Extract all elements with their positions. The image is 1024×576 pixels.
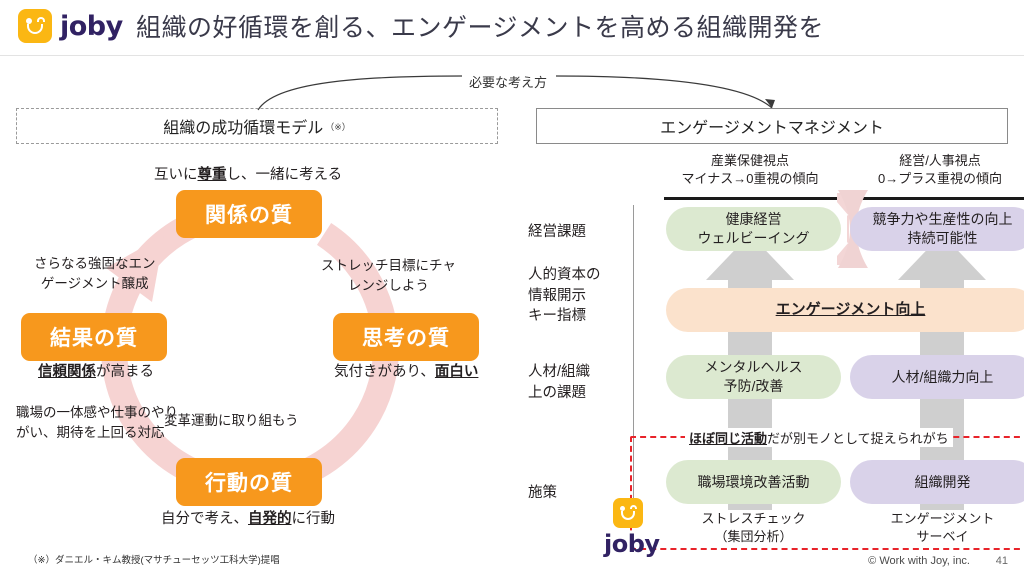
connector-label: 必要な考え方	[465, 72, 551, 91]
cycle-note-act-to-result-line2: がい、期待を上回る対応	[16, 423, 178, 443]
cell-talent-left-line2: 予防/改善	[705, 377, 803, 396]
page-number: 41	[996, 555, 1008, 567]
header-divider	[0, 55, 1024, 56]
callout-label-rest: だが別モノとして捉えられがち	[767, 431, 949, 446]
cycle-caption-action: 自分で考え、自発的に行動	[161, 510, 335, 530]
cycle-note-rel-to-think-line1: ストレッチ目標にチャ	[321, 256, 456, 276]
cycle-note-think-to-act: 変革運動に取り組もう	[164, 411, 299, 431]
footer-joby-logo-icon	[613, 498, 643, 528]
cell-talent-right[interactable]: 人材/組織力向上	[850, 355, 1024, 399]
cycle-node-action-label: 行動の質	[205, 467, 293, 497]
cell-talent-left-line1: メンタルヘルス	[705, 358, 803, 377]
cycle-caption-result-emph: 信頼関係	[38, 364, 96, 380]
left-panel-title-text: 組織の成功循環モデル	[163, 114, 323, 138]
right-panel-title: エンゲージメントマネジメント	[536, 108, 1008, 144]
cycle-note-act-to-result-line1: 職場の一体感や仕事のやり	[16, 403, 178, 423]
footer-logo-smile-icon	[621, 511, 635, 520]
cycle-note-rel-to-think-line2: レンジしよう	[321, 276, 456, 296]
cycle-node-result[interactable]: 結果の質	[21, 313, 167, 361]
cycle-caption-relationship-pre: 互いに	[154, 167, 198, 183]
measure-left-note-line2: （集団分析）	[666, 528, 841, 546]
cycle-note-think-to-act-line1: 変革運動に取り組もう	[164, 411, 299, 431]
logo-smile-icon	[27, 24, 43, 34]
cycle-caption-thinking-pre: 気付きがあり、	[334, 364, 435, 380]
cell-measure-left[interactable]: 職場環境改善活動	[666, 460, 841, 504]
cell-management-issues-right-line1: 競争力や生産性の向上	[873, 210, 1013, 229]
measure-left-note-line1: ストレスチェック	[666, 510, 841, 528]
cycle-note-result-to-rel-line1: さらなる強固なエン	[34, 254, 156, 274]
cell-talent-left[interactable]: メンタルヘルス 予防/改善	[666, 355, 841, 399]
cell-management-issues-right-line2: 持続可能性	[873, 229, 1013, 248]
cycle-caption-relationship-emph: 尊重	[198, 167, 227, 183]
left-panel-title-superscript: （※）	[325, 120, 351, 133]
cycle-caption-thinking: 気付きがあり、面白い	[334, 363, 478, 383]
cycle-note-act-to-result: 職場の一体感や仕事のやり がい、期待を上回る対応	[16, 403, 178, 444]
cycle-caption-thinking-emph: 面白い	[435, 364, 479, 380]
cycle-node-result-label: 結果の質	[50, 322, 138, 352]
slide-header: joby 組織の好循環を創る、エンゲージメントを高める組織開発を	[0, 0, 1024, 56]
measure-right-note-line1: エンゲージメント	[850, 510, 1024, 528]
cell-key-indicator-label: エンゲージメント向上	[776, 300, 926, 320]
engagement-matrix: 産業保健視点 マイナス→0重視の傾向 経営/人事視点 0→プラス重視の傾向 経営…	[520, 150, 1024, 550]
logo-eye-arc-icon	[37, 17, 45, 22]
cell-measure-right-label: 組織開発	[915, 473, 971, 492]
cycle-caption-action-pre: 自分で考え、	[161, 511, 248, 527]
footer-brand-wordmark: joby	[604, 530, 660, 558]
cell-management-issues-right[interactable]: 競争力や生産性の向上 持続可能性	[850, 207, 1024, 251]
cycle-caption-result: 信頼関係が高まる	[38, 363, 154, 383]
callout-label: ほぼ同じ活動だが別モノとして捉えられがち	[685, 428, 953, 447]
cell-management-issues-left[interactable]: 健康経営 ウェルビーイング	[666, 207, 841, 251]
brand-wordmark: joby	[60, 11, 123, 42]
cycle-node-relationship-label: 関係の質	[205, 199, 293, 229]
cycle-node-thinking-label: 思考の質	[362, 322, 450, 352]
cycle-caption-relationship: 互いに尊重し、一緒に考える	[154, 166, 342, 186]
cycle-node-relationship[interactable]: 関係の質	[176, 190, 322, 238]
page-title: 組織の好循環を創る、エンゲージメントを高める組織開発を	[136, 8, 824, 44]
measure-right-note: エンゲージメント サーベイ	[850, 510, 1024, 547]
left-panel-title: 組織の成功循環モデル （※）	[16, 108, 498, 144]
cycle-node-action[interactable]: 行動の質	[176, 458, 322, 506]
cycle-note-result-to-rel: さらなる強固なエン ゲージメント醸成	[34, 254, 156, 295]
slide-root: joby 組織の好循環を創る、エンゲージメントを高める組織開発を 必要な考え方 …	[0, 0, 1024, 576]
cell-key-indicator[interactable]: エンゲージメント向上	[666, 288, 1024, 332]
cycle-caption-action-emph: 自発的	[248, 511, 292, 527]
cycle-node-thinking[interactable]: 思考の質	[333, 313, 479, 361]
cycle-note-result-to-rel-line2: ゲージメント醸成	[34, 274, 156, 294]
joby-logo-icon	[18, 9, 52, 43]
footer-logo-eye-arc-icon	[630, 505, 637, 509]
cycle-caption-result-post: が高まる	[96, 364, 154, 380]
cycle-note-rel-to-think: ストレッチ目標にチャ レンジしよう	[321, 256, 456, 297]
copyright-text: © Work with Joy, inc.	[868, 555, 970, 567]
measure-left-note: ストレスチェック （集団分析）	[666, 510, 841, 547]
cell-measure-right[interactable]: 組織開発	[850, 460, 1024, 504]
cycle-caption-action-post: に行動	[292, 511, 336, 527]
cell-management-issues-left-line1: 健康経営	[698, 210, 810, 229]
left-panel-footnote: （※）ダニエル・キム教授(マサチューセッツ工科大学)提唱	[28, 552, 280, 566]
cell-talent-right-label: 人材/組織力向上	[892, 368, 994, 387]
measure-right-note-line2: サーベイ	[850, 528, 1024, 546]
cell-measure-left-label: 職場環境改善活動	[698, 473, 810, 492]
cycle-caption-relationship-post: し、一緒に考える	[227, 167, 343, 183]
right-panel-title-text: エンゲージメントマネジメント	[660, 114, 884, 138]
success-cycle-diagram: 関係の質 思考の質 行動の質 結果の質 互いに尊重し、一緒に考える 気付きがあり…	[16, 150, 506, 550]
cell-management-issues-left-line2: ウェルビーイング	[698, 229, 810, 248]
callout-label-emphasis: ほぼ同じ活動	[689, 431, 767, 446]
